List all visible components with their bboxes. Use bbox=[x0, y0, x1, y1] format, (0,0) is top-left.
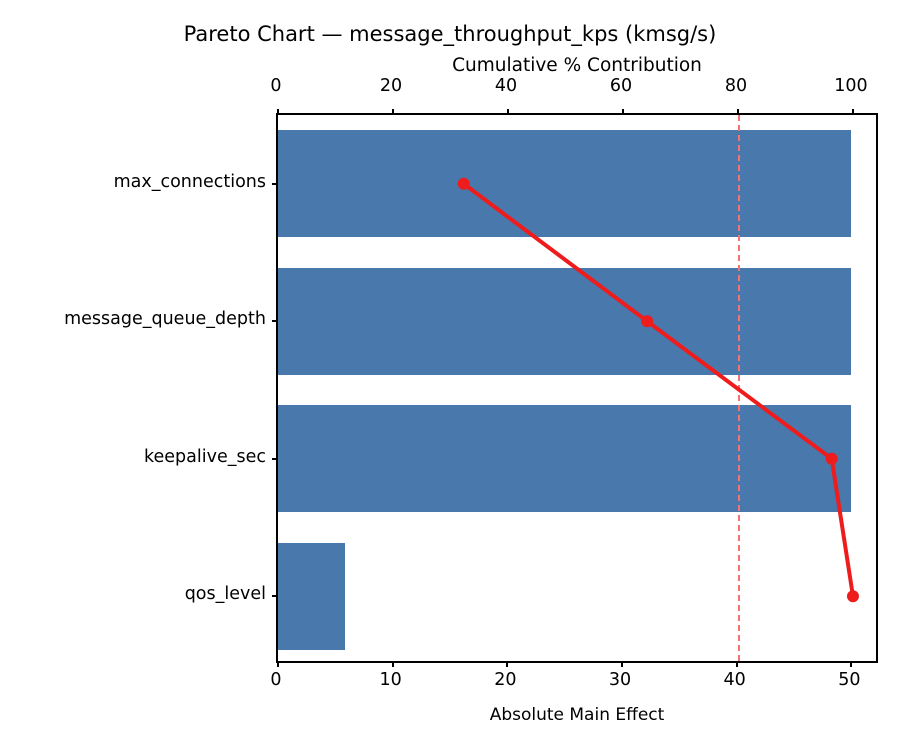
bottom-tick-40 bbox=[736, 661, 738, 667]
bottom-tick-10 bbox=[392, 661, 394, 667]
top-tick-100 bbox=[852, 109, 854, 115]
bar-keepalive_sec bbox=[278, 405, 851, 512]
bottom-tick-label-10: 10 bbox=[380, 670, 402, 690]
bar-qos_level bbox=[278, 543, 345, 650]
top-tick-label-60: 60 bbox=[610, 76, 632, 96]
bottom-tick-label-50: 50 bbox=[838, 670, 860, 690]
plot-area bbox=[276, 113, 878, 663]
top-tick-80 bbox=[737, 109, 739, 115]
bottom-tick-label-0: 0 bbox=[270, 670, 281, 690]
y-category-label-qos_level: qos_level bbox=[185, 584, 266, 604]
pareto-chart-figure: Pareto Chart — message_throughput_kps (k… bbox=[0, 0, 900, 750]
top-tick-20 bbox=[392, 109, 394, 115]
bottom-tick-label-20: 20 bbox=[494, 670, 516, 690]
top-tick-0 bbox=[277, 109, 279, 115]
bar-message_queue_depth bbox=[278, 268, 851, 375]
plot-inner bbox=[278, 115, 876, 661]
top-tick-40 bbox=[507, 109, 509, 115]
bottom-tick-50 bbox=[850, 661, 852, 667]
bottom-tick-20 bbox=[506, 661, 508, 667]
top-tick-label-20: 20 bbox=[380, 76, 402, 96]
y-category-label-message_queue_depth: message_queue_depth bbox=[64, 309, 266, 329]
bottom-tick-label-40: 40 bbox=[724, 670, 746, 690]
y-category-label-max_connections: max_connections bbox=[114, 172, 266, 192]
top-axis-label: Cumulative % Contribution bbox=[276, 55, 878, 76]
cumulative-marker-qos_level bbox=[847, 590, 859, 602]
y-tick-max_connections bbox=[272, 183, 278, 185]
top-tick-60 bbox=[622, 109, 624, 115]
bar-max_connections bbox=[278, 130, 851, 237]
bottom-axis-label: Absolute Main Effect bbox=[276, 705, 878, 725]
bottom-tick-30 bbox=[621, 661, 623, 667]
top-tick-label-100: 100 bbox=[834, 76, 867, 96]
top-tick-label-40: 40 bbox=[495, 76, 517, 96]
y-tick-qos_level bbox=[272, 595, 278, 597]
threshold-line-80-percent bbox=[738, 115, 740, 661]
bottom-tick-label-30: 30 bbox=[609, 670, 631, 690]
y-tick-keepalive_sec bbox=[272, 458, 278, 460]
y-category-label-keepalive_sec: keepalive_sec bbox=[144, 447, 266, 467]
top-tick-label-80: 80 bbox=[725, 76, 747, 96]
top-tick-label-0: 0 bbox=[270, 76, 281, 96]
y-tick-message_queue_depth bbox=[272, 320, 278, 322]
chart-title: Pareto Chart — message_throughput_kps (k… bbox=[0, 22, 900, 46]
bottom-tick-0 bbox=[277, 661, 279, 667]
cumulative-polyline bbox=[464, 184, 853, 597]
